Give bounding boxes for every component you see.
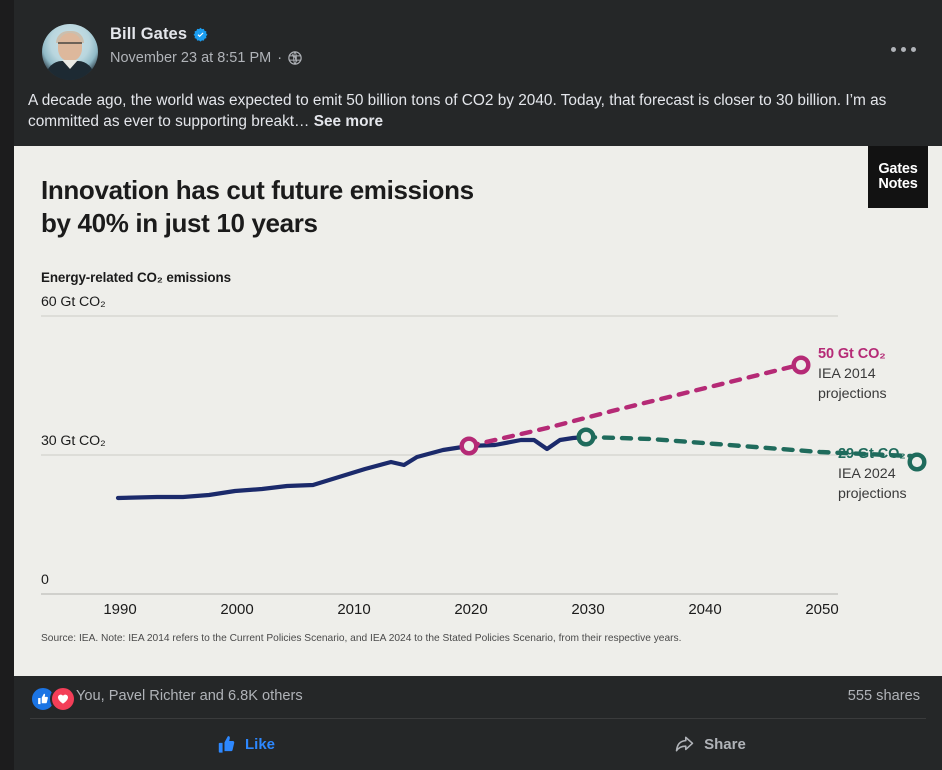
- series-iea-2014: [469, 363, 807, 446]
- annotation-desc-2024-line2: projections: [838, 485, 907, 503]
- x-tick-2010: 2010: [314, 601, 394, 618]
- avatar-glasses: [58, 42, 82, 49]
- chart-image[interactable]: Gates Notes Innovation has cut future em…: [14, 146, 942, 676]
- chart-source-note: Source: IEA. Note: IEA 2014 refers to th…: [41, 633, 681, 644]
- series-historical: [118, 437, 586, 498]
- like-button[interactable]: Like: [14, 719, 478, 770]
- annotation-iea-2024: 29 Gt CO₂ IEA 2024 projections: [838, 446, 907, 503]
- annotation-desc-2024-line1: IEA 2024: [838, 465, 907, 483]
- ellipsis-icon: [891, 47, 896, 52]
- x-tick-2020: 2020: [431, 601, 511, 618]
- post-options-button[interactable]: [886, 38, 920, 60]
- like-button-label: Like: [245, 736, 275, 753]
- annotation-value-29: 29 Gt CO₂: [838, 446, 907, 463]
- annotation-iea-2014: 50 Gt CO₂ IEA 2014 projections: [818, 346, 887, 403]
- annotation-desc-2014-line2: projections: [818, 385, 887, 403]
- globe-icon[interactable]: [288, 51, 302, 65]
- facebook-post: Bill Gates November 23 at 8:51 PM ·: [14, 0, 942, 770]
- share-arrow-icon: [674, 734, 695, 755]
- share-button[interactable]: Share: [478, 719, 942, 770]
- post-body-text: A decade ago, the world was expected to …: [28, 92, 886, 130]
- meta-separator: ·: [277, 51, 282, 66]
- post-meta: November 23 at 8:51 PM ·: [110, 50, 302, 66]
- marker-29gt: [910, 455, 925, 470]
- x-tick-2000: 2000: [197, 601, 277, 618]
- x-tick-2040: 2040: [665, 601, 745, 618]
- share-count-text[interactable]: 555 shares: [848, 688, 920, 704]
- see-more-link[interactable]: See more: [314, 113, 383, 130]
- verified-badge-icon: [193, 27, 208, 42]
- post-body: A decade ago, the world was expected to …: [28, 90, 922, 132]
- author-name[interactable]: Bill Gates: [110, 25, 187, 44]
- annotation-desc-2014-line1: IEA 2014: [818, 365, 887, 383]
- marker-iea2014-start: [462, 439, 477, 454]
- post-header: Bill Gates November 23 at 8:51 PM ·: [14, 0, 942, 88]
- action-bar: Like Share: [14, 719, 942, 770]
- chart-plot: [14, 146, 942, 676]
- share-button-label: Share: [704, 736, 746, 753]
- annotation-value-50: 50 Gt CO₂: [818, 346, 887, 363]
- avatar[interactable]: [42, 24, 98, 80]
- heart-reaction-icon: [50, 686, 76, 712]
- x-tick-1990: 1990: [80, 601, 160, 618]
- thumbs-up-icon: [217, 735, 236, 754]
- reaction-icons[interactable]: [30, 686, 76, 712]
- x-tick-2050: 2050: [782, 601, 862, 618]
- x-tick-2030: 2030: [548, 601, 628, 618]
- reactions-bar: You, Pavel Richter and 6.8K others 555 s…: [14, 676, 942, 720]
- marker-50gt: [794, 358, 809, 373]
- author-row: Bill Gates: [110, 25, 208, 44]
- post-timestamp[interactable]: November 23 at 8:51 PM: [110, 50, 271, 66]
- marker-iea2024-start: [579, 430, 594, 445]
- reaction-count-text[interactable]: You, Pavel Richter and 6.8K others: [76, 688, 303, 704]
